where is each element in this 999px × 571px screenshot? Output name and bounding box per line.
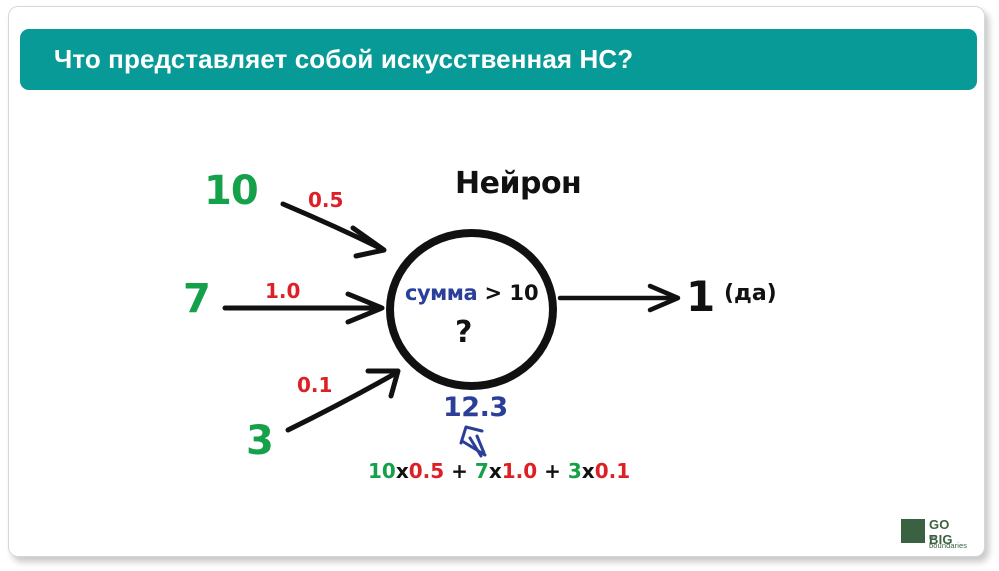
formula-plus-1: + (451, 459, 468, 483)
formula-input-2: 7 (475, 459, 489, 483)
logo-square-icon (901, 519, 925, 543)
formula-weight-1: 0.5 (409, 459, 444, 483)
neuron-condition-word: сумма (405, 281, 477, 305)
formula-plus-2: + (544, 459, 561, 483)
formula-weight-2: 1.0 (502, 459, 537, 483)
neuron-circle (386, 229, 557, 390)
page-title: Что представляет собой искусственная НС? (54, 29, 633, 90)
formula-input-3: 3 (568, 459, 582, 483)
formula-times-2: x (489, 459, 502, 483)
neuron-condition: сумма > 10 (405, 281, 539, 305)
input-value-1: 10 (204, 168, 258, 214)
formula-weight-3: 0.1 (595, 459, 630, 483)
neuron-question-mark: ? (455, 315, 472, 350)
formula-times-1: x (396, 459, 409, 483)
slide-canvas: Что представляет собой искусственная НС? (0, 0, 999, 571)
title-banner: Что представляет собой искусственная НС? (20, 29, 977, 90)
formula-times-3: x (582, 459, 595, 483)
weight-label-1: 0.5 (308, 188, 343, 212)
neuron-condition-rest: > 10 (484, 281, 538, 305)
sum-value: 12.3 (443, 392, 508, 423)
input-value-2: 7 (183, 276, 210, 322)
formula-input-1: 10 (368, 459, 396, 483)
weight-label-3: 0.1 (297, 373, 332, 397)
weight-label-2: 1.0 (265, 279, 300, 303)
logo-tagline: no boundaries (929, 532, 977, 550)
neuron-label: Нейрон (455, 166, 581, 201)
output-value: 1 (686, 272, 715, 321)
output-note: (да) (724, 281, 777, 306)
logo: GO BIG no boundaries (901, 517, 977, 546)
formula-expression: 10x0.5 + 7x1.0 + 3x0.1 (368, 459, 630, 483)
input-value-3: 3 (246, 418, 273, 464)
